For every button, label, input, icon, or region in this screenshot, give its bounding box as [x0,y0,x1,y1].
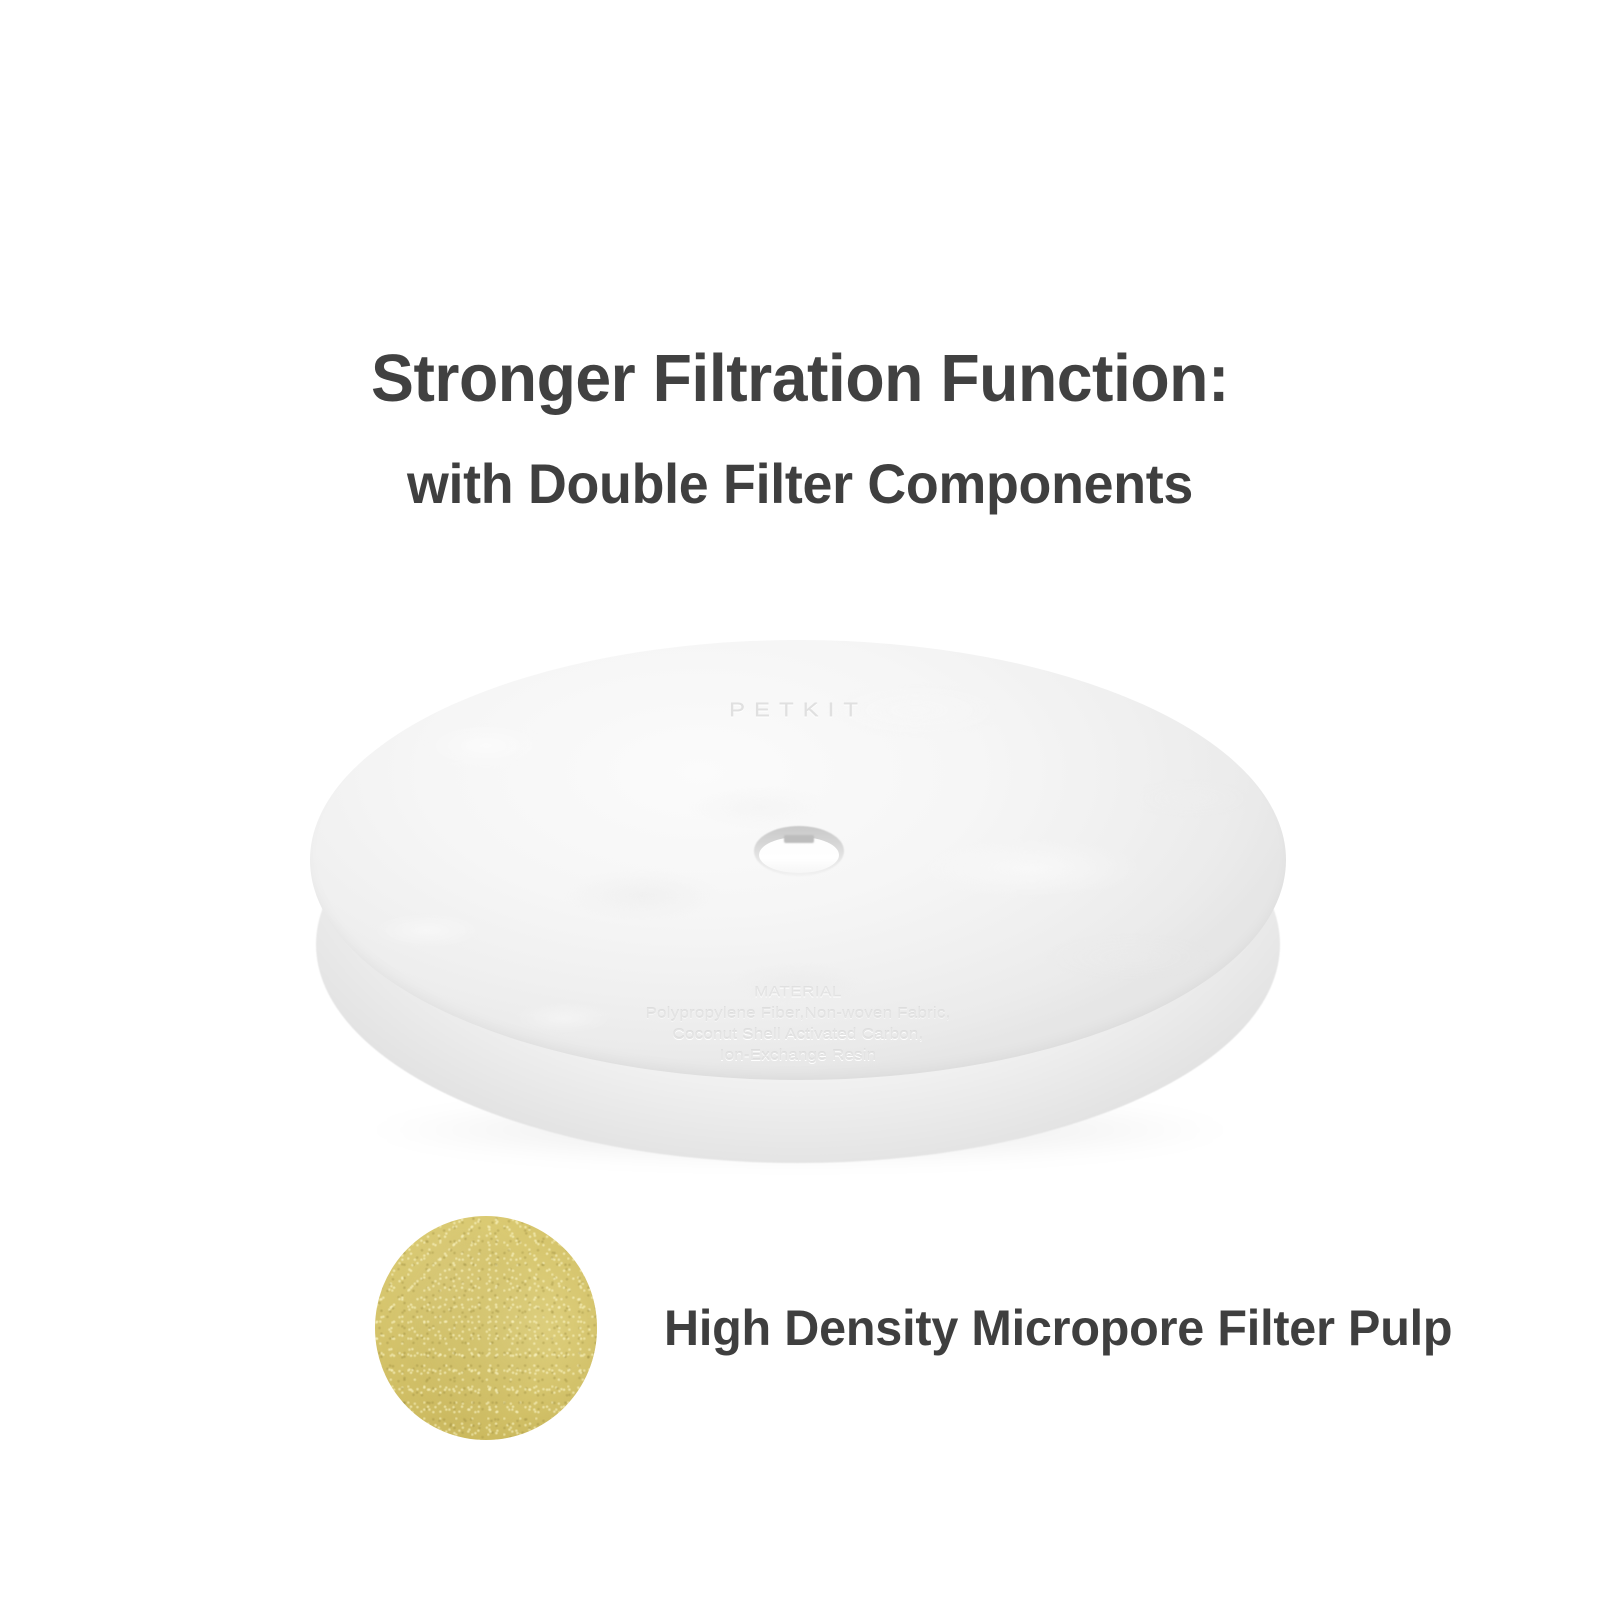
page-title: Stronger Filtration Function: [32,345,1568,412]
material-line-1: Polypropylene Fiber,Non-woven Fabric, [310,1003,1286,1024]
headings-block: Stronger Filtration Function: with Doubl… [0,345,1600,512]
disc-top-face: PETKIT MATERIAL Polypropylene Fiber,Non-… [310,640,1286,1080]
material-line-2: Coconut Shell Activated Carbon, [310,1024,1286,1045]
material-line-3: Ion-Exchange Resin [310,1045,1286,1066]
material-emboss-block: MATERIAL Polypropylene Fiber,Non-woven F… [310,982,1286,1067]
material-heading: MATERIAL [310,982,1286,1003]
filter-disc-illustration: PETKIT MATERIAL Polypropylene Fiber,Non-… [310,640,1286,1165]
page-subtitle: with Double Filter Components [32,456,1568,512]
petkit-brand-emboss: PETKIT [310,700,1286,723]
filter-pulp-puck [375,1216,597,1440]
puck-grain-texture [375,1216,597,1440]
pulp-caption: High Density Micropore Filter Pulp [664,1303,1452,1353]
center-hole-notch [784,835,814,843]
center-hole [754,826,844,876]
